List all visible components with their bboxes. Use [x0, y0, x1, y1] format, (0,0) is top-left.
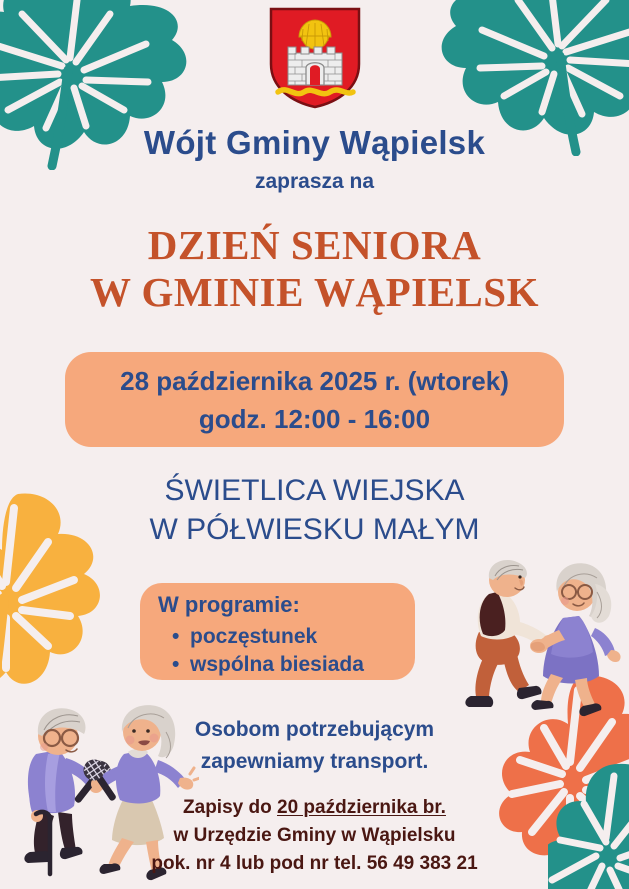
date-time-banner: 28 października 2025 r. (wtorek) godz. 1…: [65, 352, 564, 447]
event-title-line1: DZIEŃ SENIORA: [0, 223, 629, 269]
program-list: •poczęstunek •wspólna biesiada: [172, 623, 364, 679]
signup-line1: Zapisy do 20 października br.: [0, 798, 629, 818]
program-item-label: poczęstunek: [190, 625, 317, 648]
program-heading: W programie:: [158, 592, 300, 618]
invitation-subtitle: zaprasza na: [0, 170, 629, 194]
signup-deadline: 20 października br.: [277, 797, 446, 818]
program-box: W programie: •poczęstunek •wspólna biesi…: [140, 583, 415, 680]
signup-line3: pok. nr 4 lub pod nr tel. 56 49 383 21: [0, 854, 629, 874]
signup-line2: w Urzędzie Gminy w Wąpielsku: [0, 826, 629, 846]
dancing-couple-illustration: [445, 558, 625, 723]
list-item: •poczęstunek: [172, 623, 364, 651]
transport-note-line1: Osobom potrzebującym: [0, 718, 629, 742]
event-time: godz. 12:00 - 16:00: [65, 404, 564, 435]
signup-prefix: Zapisy do: [183, 797, 277, 818]
page-title: Wójt Gminy Wąpielsk: [0, 124, 629, 162]
coat-of-arms-icon: [268, 6, 362, 110]
bullet-icon: •: [172, 651, 190, 679]
event-title-line2: W GMINIE WĄPIELSK: [0, 270, 629, 316]
list-item: •wspólna biesiada: [172, 651, 364, 679]
event-date: 28 października 2025 r. (wtorek): [65, 366, 564, 397]
bullet-icon: •: [172, 623, 190, 651]
transport-note-line2: zapewniamy transport.: [0, 750, 629, 774]
venue-line1: ŚWIETLICA WIEJSKA: [0, 473, 629, 508]
program-item-label: wspólna biesiada: [190, 653, 364, 676]
poster-canvas: Wójt Gminy Wąpielsk zaprasza na DZIEŃ SE…: [0, 0, 629, 889]
venue-line2: W PÓŁWIESKU MAŁYM: [0, 512, 629, 547]
